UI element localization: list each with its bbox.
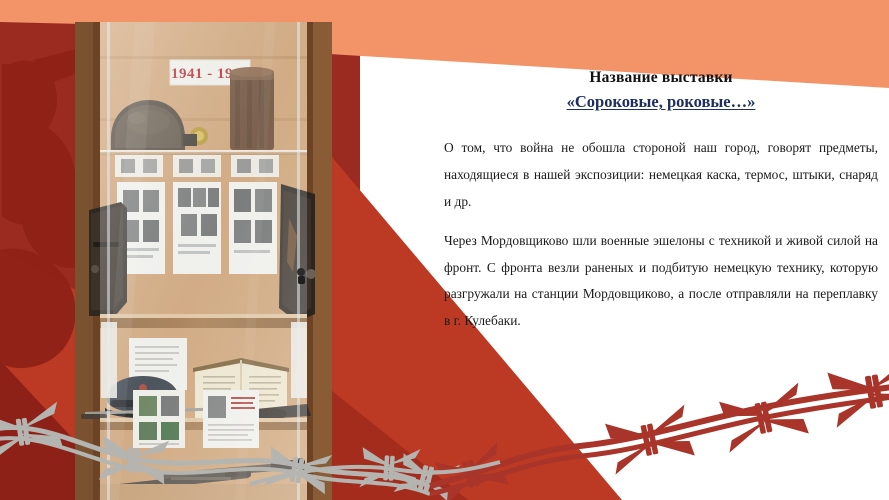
exhibition-title: Название выставки xyxy=(444,68,878,89)
exhibit-photo: 1941 - 1945 xyxy=(75,22,332,500)
exhibition-subtitle: «Сороковые, роковые…» xyxy=(444,91,878,112)
paragraph-1: О том, что война не обошла стороной наш … xyxy=(444,135,878,215)
body-text: О том, что война не обошла стороной наш … xyxy=(444,135,878,335)
paragraph-2: Через Мордовщиково шли военные эшелоны с… xyxy=(444,228,878,335)
text-column: Название выставки «Сороковые, роковые…» … xyxy=(444,68,878,335)
slide-canvas: 1941 - 1945 xyxy=(0,0,889,500)
